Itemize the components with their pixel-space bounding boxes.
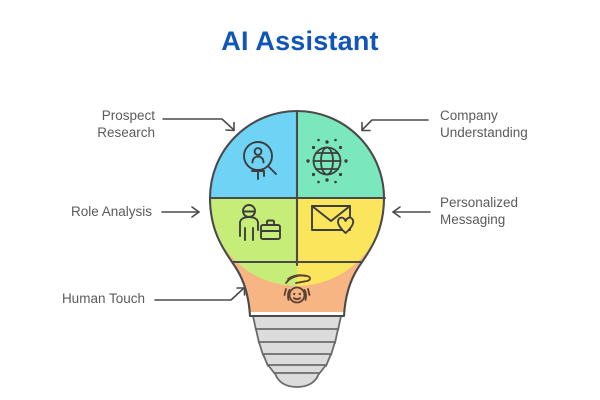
bulb-screw-base	[253, 316, 341, 387]
label-role-analysis: Role Analysis	[0, 203, 152, 220]
arrow-company-understanding	[362, 120, 428, 131]
arrow-human-touch	[155, 288, 245, 300]
label-human-touch: Human Touch	[0, 290, 145, 307]
label-personalized-messaging: Personalized Messaging	[440, 194, 600, 228]
arrow-personalized-messaging	[393, 207, 430, 217]
diagram-canvas: AI Assistant	[0, 0, 600, 400]
label-prospect-research: Prospect Research	[0, 107, 155, 141]
label-company-understanding: Company Understanding	[440, 107, 600, 141]
arrow-role-analysis	[162, 207, 199, 217]
arrow-prospect-research	[163, 119, 234, 131]
bulb-segments	[195, 100, 405, 330]
